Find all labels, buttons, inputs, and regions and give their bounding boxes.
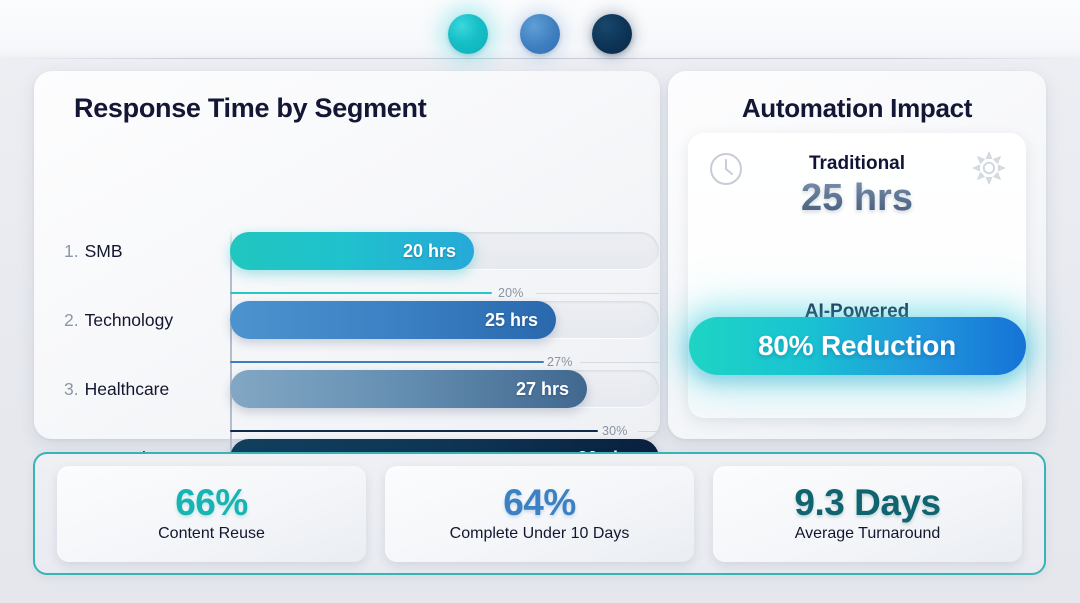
header-dots	[0, 10, 1080, 58]
reduction-pill-wrap: 80% Reduction	[668, 317, 1046, 375]
tick-line-rest-2	[638, 431, 659, 432]
bar-track-0: 20 hrs	[230, 232, 659, 270]
automation-impact-title: Automation Impact	[668, 93, 1046, 124]
top-divider	[0, 58, 1080, 59]
dot-navy	[592, 14, 632, 54]
stat-label-1: Complete Under 10 Days	[450, 525, 630, 543]
bar-track-1: 25 hrs	[230, 301, 659, 339]
stats-bar: 66% Content Reuse 64% Complete Under 10 …	[33, 452, 1046, 575]
tick-line-colored-1	[230, 361, 544, 363]
stat-label-0: Content Reuse	[158, 525, 265, 543]
stat-value-1: 64%	[503, 484, 576, 523]
stat-value-0: 66%	[175, 484, 248, 523]
dot-teal	[448, 14, 488, 54]
bar-label-0: 1. SMB	[64, 229, 123, 273]
bar-track-2: 27 hrs	[230, 370, 659, 408]
dot-blue	[520, 14, 560, 54]
bar-fill-1: 25 hrs	[230, 301, 556, 339]
tick-line-rest-0	[536, 293, 659, 294]
traditional-label: Traditional	[688, 153, 1026, 175]
tick-line-colored-2	[230, 430, 598, 432]
bar-value-0: 20 hrs	[403, 241, 474, 262]
stat-card-complete-under-10-days: 64% Complete Under 10 Days	[385, 466, 694, 562]
stat-value-2: 9.3 Days	[794, 484, 940, 523]
page-title: Response Time by Segment	[74, 93, 426, 124]
bar-category-2: Healthcare	[85, 379, 170, 400]
infographic-page: Response Time by Segment 1. SMB 20 hrs 2…	[0, 0, 1080, 603]
response-time-panel: Response Time by Segment 1. SMB 20 hrs 2…	[34, 71, 660, 439]
stat-card-average-turnaround: 9.3 Days Average Turnaround	[713, 466, 1022, 562]
bar-rank-2: 3.	[64, 379, 79, 400]
bar-category-1: Technology	[85, 310, 174, 331]
bar-label-1: 2. Technology	[64, 298, 173, 342]
bar-fill-2: 27 hrs	[230, 370, 587, 408]
reduction-badge-label: 80% Reduction	[758, 330, 956, 362]
table-row: 1. SMB 20 hrs	[34, 229, 660, 273]
automation-impact-panel: Automation Impact	[668, 71, 1046, 439]
bar-value-2: 27 hrs	[516, 379, 587, 400]
horizontal-bar-chart: 1. SMB 20 hrs 20% 2. Technology	[34, 147, 660, 432]
reduction-badge: 80% Reduction	[689, 317, 1026, 375]
stat-label-2: Average Turnaround	[795, 525, 941, 543]
bar-rank-0: 1.	[64, 241, 79, 262]
bar-value-1: 25 hrs	[485, 310, 556, 331]
bar-fill-0: 20 hrs	[230, 232, 474, 270]
tick-line-colored-0	[230, 292, 492, 294]
table-row: 3. Healthcare 27 hrs	[34, 367, 660, 411]
table-row: 2. Technology 25 hrs	[34, 298, 660, 342]
impact-card: Traditional 25 hrs AI-Powered Under 5 hr…	[688, 133, 1026, 418]
stat-card-content-reuse: 66% Content Reuse	[57, 466, 366, 562]
bar-label-2: 3. Healthcare	[64, 367, 169, 411]
traditional-value: 25 hrs	[688, 177, 1026, 220]
tick-line-rest-1	[580, 362, 659, 363]
bar-category-0: SMB	[85, 241, 123, 262]
bar-rank-1: 2.	[64, 310, 79, 331]
